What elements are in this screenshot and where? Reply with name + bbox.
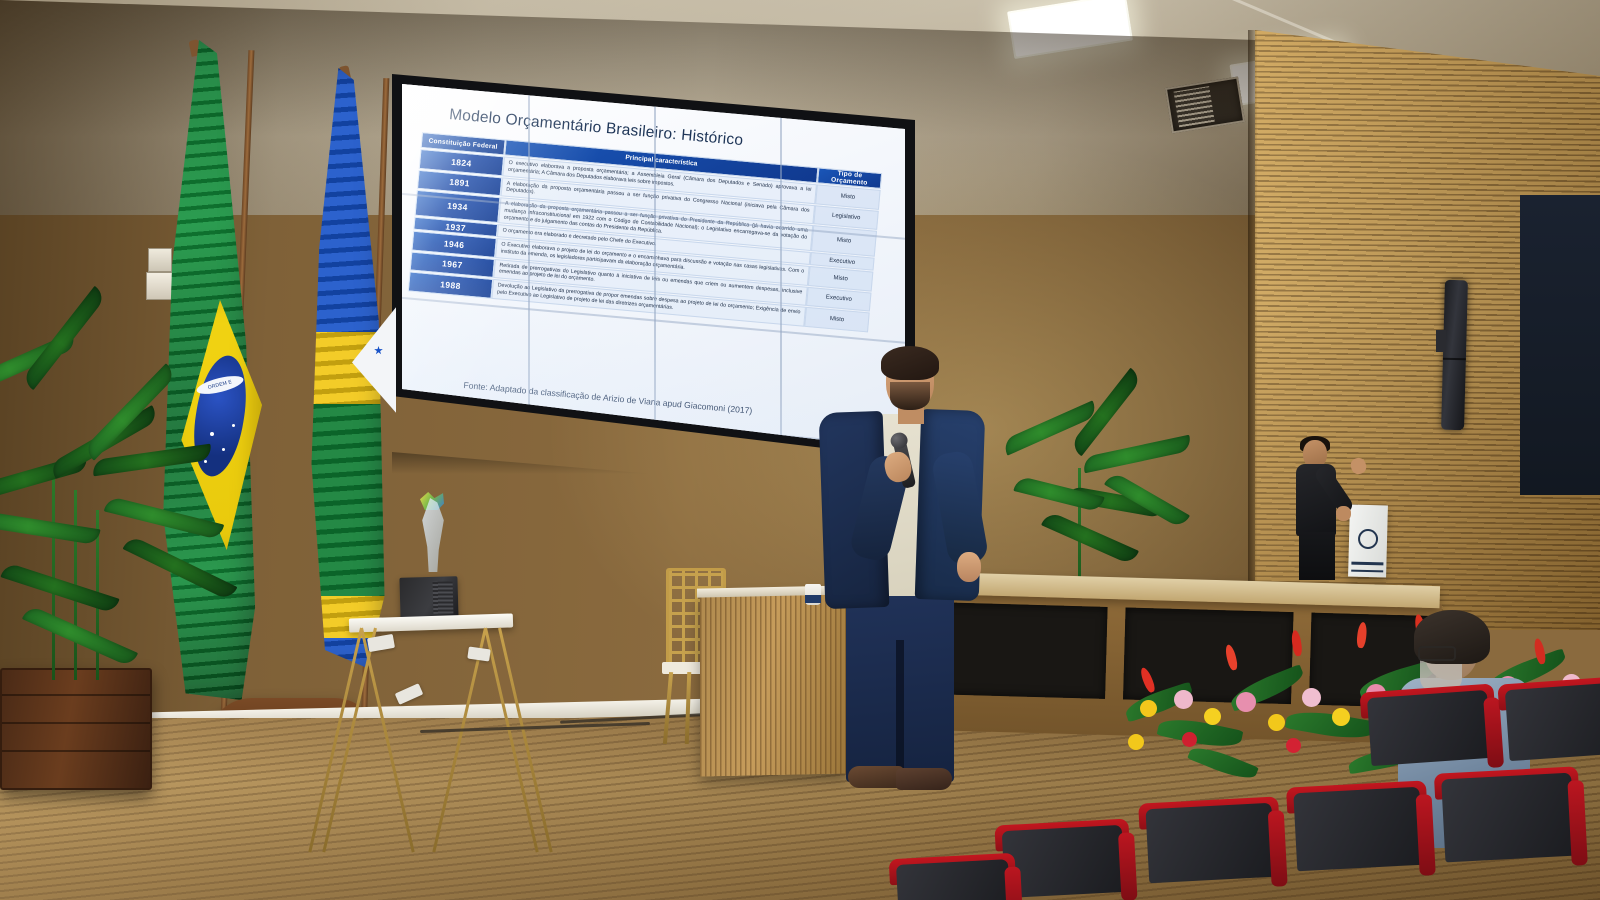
panel-seam (780, 84, 782, 450)
auditorium-seat[interactable] (1293, 787, 1424, 899)
audience-glasses-icon (1418, 646, 1456, 661)
palm-stem (52, 470, 55, 680)
paper-cup (805, 584, 821, 605)
speaker-trouser-seam (896, 640, 904, 785)
dark-wall-panel (1520, 195, 1600, 495)
flag-star (222, 448, 225, 451)
auditorium-photo-scene: Modelo Orçamentário Brasileiro: Históric… (0, 0, 1600, 900)
speaker-shoe (896, 768, 952, 790)
high-table-legs (356, 628, 506, 850)
wall-sensor-box (148, 248, 172, 272)
auditorium-seat[interactable] (896, 859, 1012, 900)
lectern (1348, 505, 1388, 578)
interpreter-hand (1336, 506, 1351, 521)
auditorium-seat[interactable] (1441, 773, 1577, 892)
panel-seam (654, 84, 656, 450)
flag-star (204, 460, 207, 463)
lectern-emblem-icon (1358, 529, 1379, 550)
speaker-beard (890, 382, 930, 410)
flag-star (210, 432, 214, 436)
wall-corner (1248, 30, 1257, 630)
interpreter-legs (1299, 532, 1335, 580)
auditorium-seat[interactable] (1505, 682, 1600, 786)
line-array-speaker (1441, 280, 1468, 431)
video-wall-screen[interactable]: Modelo Orçamentário Brasileiro: Históric… (402, 84, 905, 450)
auditorium-seat[interactable] (1145, 803, 1276, 900)
speaker-bracket (1436, 330, 1446, 352)
wall-sensor-box (146, 272, 174, 300)
auditorium-seat[interactable] (1367, 690, 1493, 790)
speaker-hair (881, 346, 939, 380)
panel-table-front (937, 602, 1108, 699)
desktop-speaker-box (399, 576, 458, 620)
flag-star (232, 424, 235, 427)
presentation-slide: Modelo Orçamentário Brasileiro: Históric… (402, 84, 905, 450)
speaker-hand-right (957, 552, 981, 582)
wooden-podium (700, 590, 848, 776)
panel-seam (528, 84, 530, 450)
planter-box (0, 668, 152, 790)
